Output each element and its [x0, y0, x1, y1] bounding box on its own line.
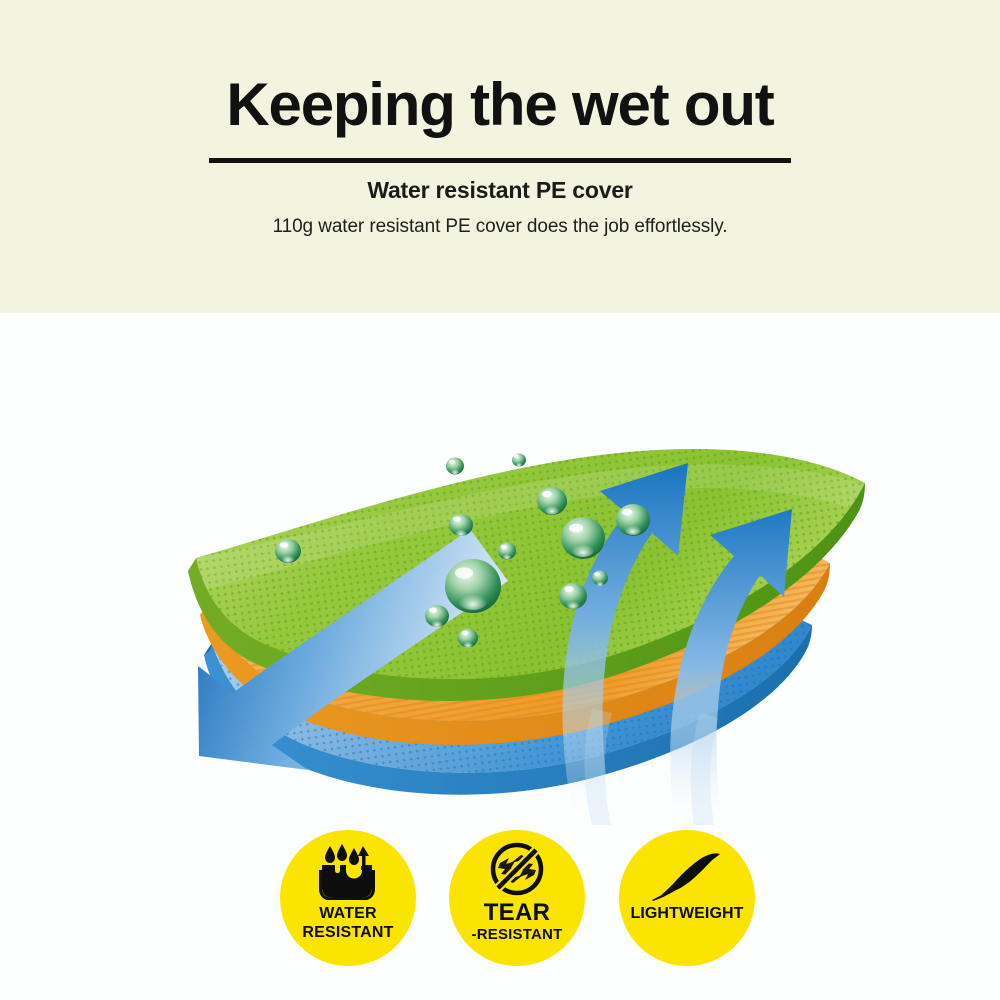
title-divider	[209, 158, 791, 163]
droplet	[498, 543, 516, 560]
droplet	[512, 454, 526, 467]
header-subtitle: Water resistant PE cover	[0, 176, 1000, 204]
droplet	[445, 559, 501, 613]
droplet	[561, 517, 605, 559]
badge-caption-line-1: WATER	[319, 905, 377, 922]
badge-caption-sub: -RESISTANT	[449, 926, 585, 944]
fabric-layers-illustration	[0, 313, 1000, 833]
droplet	[537, 487, 567, 515]
product-feature-card: Keeping the wet out Water resistant PE c…	[0, 0, 1000, 1000]
droplet	[446, 458, 464, 475]
feather-icon	[619, 848, 755, 906]
badge-caption-line-1: LIGHTWEIGHT	[630, 905, 743, 922]
badge-caption: LIGHTWEIGHT	[619, 904, 755, 923]
feature-badges: WATER RESISTANT TEAR -RESISTANT	[0, 830, 1000, 970]
badge-caption: WATER RESISTANT	[280, 904, 416, 942]
badge-caption-main: TEAR	[449, 900, 585, 926]
droplet	[559, 583, 587, 609]
page-title: Keeping the wet out	[0, 73, 1000, 137]
droplet	[616, 504, 650, 536]
badge-caption-line-2: RESISTANT	[302, 924, 393, 941]
water-drop-repel-icon	[280, 842, 416, 902]
no-tear-icon	[449, 840, 585, 898]
header-band: Keeping the wet out Water resistant PE c…	[0, 0, 1000, 313]
badge-lightweight[interactable]: LIGHTWEIGHT	[619, 830, 755, 966]
badge-water-resistant[interactable]: WATER RESISTANT	[280, 830, 416, 966]
droplet	[275, 539, 301, 563]
header-description: 110g water resistant PE cover does the j…	[0, 215, 1000, 239]
badge-tear-resistant[interactable]: TEAR -RESISTANT	[449, 830, 585, 966]
badge-caption: TEAR -RESISTANT	[449, 900, 585, 944]
